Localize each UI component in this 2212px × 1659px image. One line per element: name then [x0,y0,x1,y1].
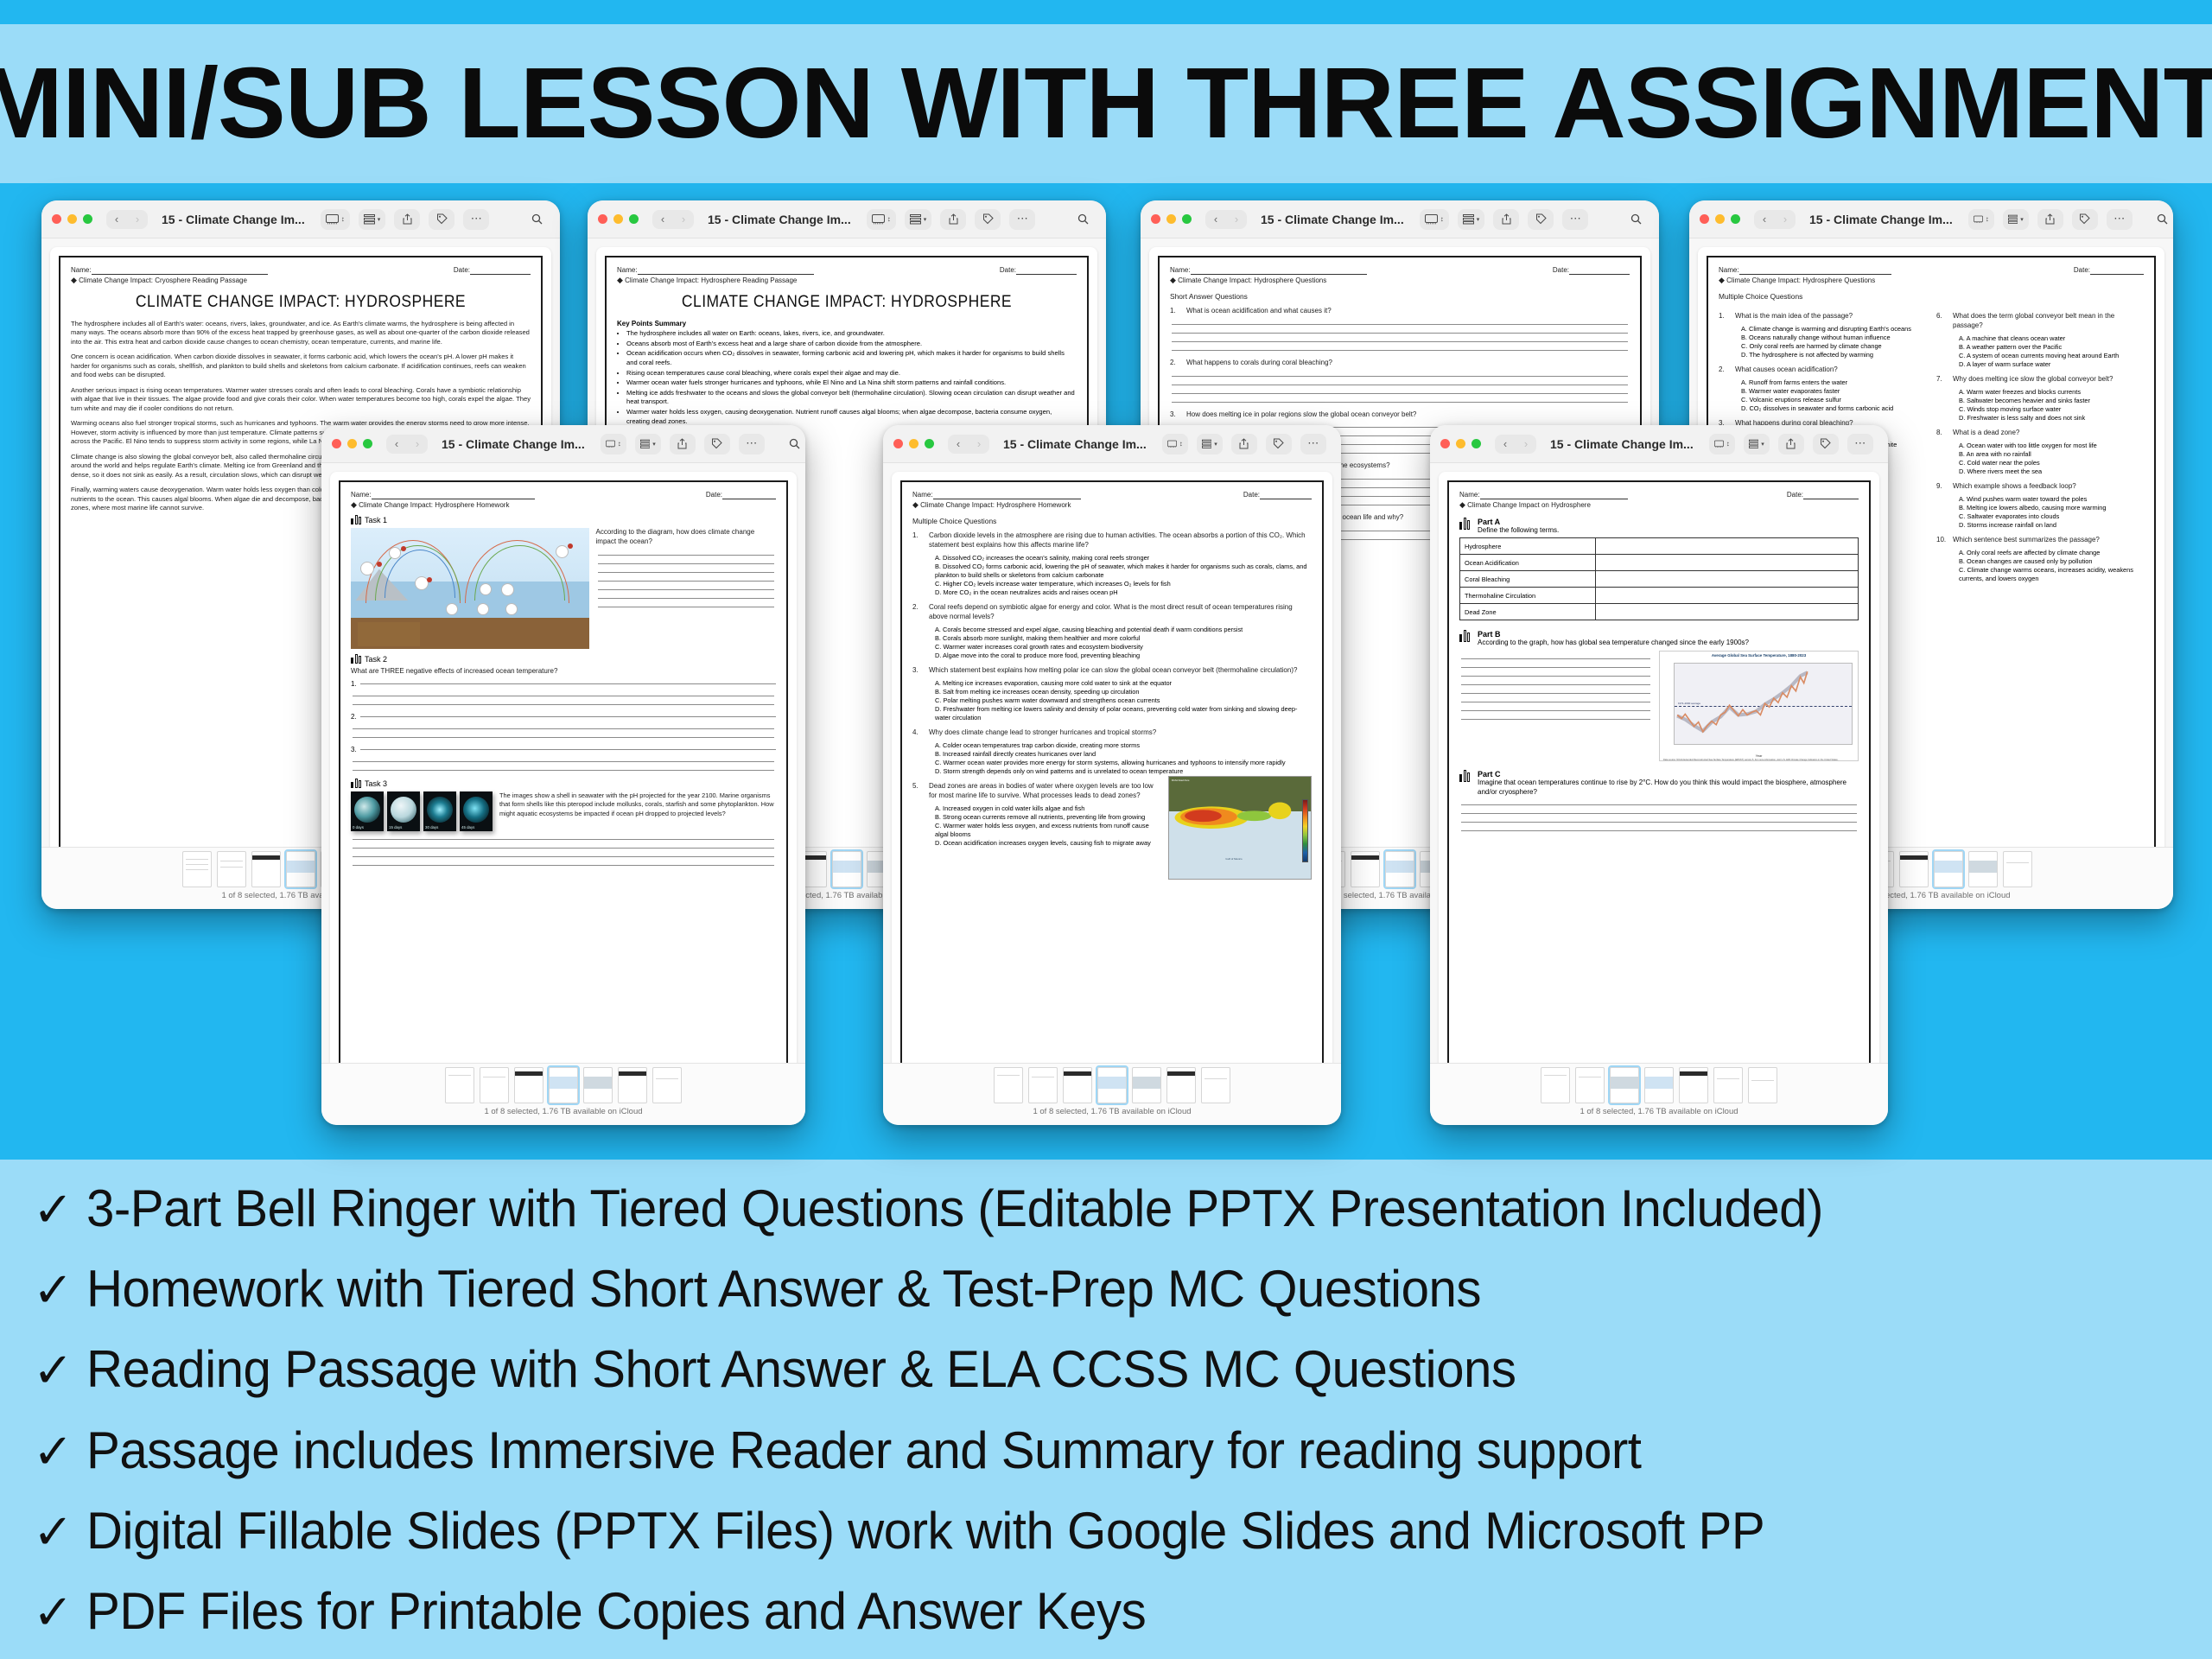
view-mode-icon[interactable]: ↕ [1420,209,1449,230]
choice[interactable]: B. Warmer water evaporates faster [1741,387,1926,396]
choice[interactable]: A. Increased oxygen in cold water kills … [935,804,1161,813]
term-cell: Coral Bleaching [1460,571,1596,588]
table-row[interactable]: Dead Zone [1460,604,1859,620]
titlebar[interactable]: ‹ › 15 - Climate Change Im... ↕ ▾ ⋯ [1141,200,1659,238]
thumbnail[interactable] [1968,851,1998,887]
choice[interactable]: B. An area with no rainfall [1959,450,2144,459]
choice[interactable]: B. Increased rainfall directly creates h… [935,750,1312,759]
choice-list[interactable]: A. Increased oxygen in cold water kills … [935,804,1161,848]
question: 1.Carbon dioxide levels in the atmospher… [912,531,1312,550]
group-by-icon[interactable]: ▾ [1744,434,1770,454]
traffic-lights[interactable] [893,439,934,448]
list-item: The hydrosphere includes all water on Ea… [626,329,1077,339]
list-item: Warmer ocean water fuels stronger hurric… [626,378,1077,388]
minimize-icon[interactable] [613,214,623,224]
feature-label: PDF Files for Printable Copies and Answe… [86,1585,1146,1637]
chart-title: Average Global Sea Surface Temperature, … [1660,652,1858,658]
close-icon[interactable] [893,439,903,448]
part-a-prompt: Define the following terms. [1478,526,1559,534]
choice[interactable]: C. Warmer water holds less oxygen, and e… [935,822,1161,839]
choice[interactable]: D. CO₂ dissolves in seawater and forms c… [1741,404,1926,413]
dead-zone-map-image: NOAA Dead Zone Gulf of Mexico [1168,776,1312,880]
choice-list[interactable]: A. Ocean water with too little oxygen fo… [1959,442,2144,476]
choice[interactable]: A. Climate change is warming and disrupt… [1741,325,1926,334]
thumbnail-selected[interactable] [1097,1067,1127,1103]
search-icon[interactable] [1070,209,1096,230]
name-date-row: Name: Date: [71,266,531,275]
window-title: 15 - Climate Change Im... [1003,437,1147,451]
choice[interactable]: D. A layer of warm surface water [1959,360,2144,369]
nav-buttons[interactable]: ‹ › [1495,435,1536,454]
forward-icon[interactable]: › [969,435,989,454]
bar-chart-icon [1459,770,1470,782]
forward-icon[interactable]: › [1226,210,1247,229]
thumbnail[interactable] [994,1067,1023,1103]
zoom-icon[interactable] [363,439,372,448]
search-icon[interactable] [524,209,550,230]
thumbnail-selected[interactable] [1610,1067,1639,1103]
feature-item: ✓ Digital Fillable Slides (PPTX Files) w… [33,1504,2193,1557]
back-icon[interactable]: ‹ [652,210,673,229]
answer-line [598,572,774,573]
back-icon[interactable]: ‹ [948,435,969,454]
titlebar[interactable]: ‹ › 15 - Climate Change Im... ↕ ▾ ⋯ [321,425,805,463]
zoom-icon[interactable] [629,214,639,224]
traffic-lights[interactable] [52,214,92,224]
choice-list[interactable]: A. Runoff from farms enters the water B.… [1741,378,1926,413]
choice[interactable]: B. Corals absorb more sunlight, making t… [935,634,1312,643]
document-page: Name: Date: ◆ Climate Change Impact on H… [1447,480,1871,1084]
passage-paragraph: The hydrosphere includes all of Earth's … [71,320,531,346]
definition-cell[interactable] [1595,555,1858,571]
thumbnail[interactable] [1644,1067,1674,1103]
thumbnail[interactable] [583,1067,613,1103]
answer-line [1461,830,1857,831]
nav-buttons[interactable]: ‹ › [948,435,989,454]
choice[interactable]: D. More CO₂ in the ocean neutralizes aci… [935,588,1312,597]
definition-cell[interactable] [1595,588,1858,604]
tag-icon[interactable] [429,209,454,230]
table-row[interactable]: Thermohaline Circulation [1460,588,1859,604]
group-by-icon[interactable]: ▾ [635,434,661,454]
more-icon[interactable]: ⋯ [1300,434,1326,454]
thumbnail-selected[interactable] [286,851,315,887]
date-label: Date: [1243,491,1260,499]
traffic-lights[interactable] [1151,214,1192,224]
forward-icon[interactable]: › [1775,210,1796,229]
status-text: 1 of 8 selected, 1.76 TB available on iC… [1033,1105,1191,1116]
answer-line [353,865,774,866]
choice[interactable]: D. Freshwater is less salty and does not… [1959,414,2144,423]
bar-chart-icon [351,515,361,524]
choice[interactable]: A. Wind pushes warm water toward the pol… [1959,495,2144,504]
feature-list: ✓ 3-Part Bell Ringer with Tiered Questio… [33,1182,2193,1659]
status-bar: 1 of 8 selected, 1.76 TB available on iC… [321,1063,805,1125]
choice[interactable]: D. Freshwater from melting ice lowers sa… [935,705,1312,722]
titlebar[interactable]: ‹ › 15 - Climate Change Im... ↕ ▾ ⋯ [883,425,1341,463]
name-label: Name: [351,491,372,499]
titlebar[interactable]: ‹ › 15 - Climate Change Im... ↕ ▾ ⋯ [1430,425,1888,463]
name-label: Name: [1719,266,1739,274]
top-accent-band [0,0,2212,24]
thumbnail[interactable] [618,1067,647,1103]
choice[interactable]: D. Where rivers meet the sea [1959,467,2144,476]
thumbnail-selected[interactable] [1934,851,1963,887]
view-mode-icon[interactable]: ↕ [1968,209,1994,230]
view-mode-icon[interactable]: ↕ [601,434,626,454]
tag-icon[interactable] [704,434,730,454]
thumbnail-selected[interactable] [549,1067,578,1103]
forward-icon[interactable]: › [1516,435,1536,454]
choice[interactable]: D. Storms increase rainfall on land [1959,521,2144,530]
check-icon: ✓ [33,1266,86,1314]
minimize-icon[interactable] [1715,214,1725,224]
choice[interactable]: A. A machine that cleans ocean water [1959,334,2144,343]
choice[interactable]: A. Runoff from farms enters the water [1741,378,1926,387]
choice-list[interactable]: A. Wind pushes warm water toward the pol… [1959,495,2144,530]
thumbnail[interactable] [1201,1067,1230,1103]
task-3-prompt: The images show a shell in seawater with… [499,791,776,818]
share-icon[interactable] [1778,434,1804,454]
choice[interactable]: C. Warmer ocean water provides more ener… [935,759,1312,767]
choice[interactable]: C. Climate change warms oceans, increase… [1959,566,2144,583]
answer-line [353,704,774,705]
thumbnail[interactable] [1166,1067,1196,1103]
thumbnail[interactable] [2003,851,2032,887]
section-heading: Multiple Choice Questions [912,517,1312,525]
name-label: Name: [1459,491,1480,499]
document-subhead: ◆ Climate Change Impact: Hydrosphere Hom… [351,500,776,510]
close-icon[interactable] [52,214,61,224]
status-text: 1 of 8 selected, 1.76 TB available on iC… [484,1105,642,1116]
share-icon[interactable] [1493,209,1519,230]
titlebar[interactable]: ‹ › 15 - Climate Change Im... ↕ ▾ ⋯ [41,200,560,238]
answer-line [1461,813,1857,814]
nav-buttons[interactable]: ‹ › [386,435,428,454]
close-icon[interactable] [1440,439,1450,448]
close-icon[interactable] [598,214,607,224]
back-icon[interactable]: ‹ [1754,210,1775,229]
chart-plot-area: 1971-2000 average [1674,663,1853,745]
more-icon[interactable]: ⋯ [1562,209,1588,230]
definitions-table[interactable]: Hydrosphere Ocean Acidification Coral Bl… [1459,537,1859,620]
table-row[interactable]: Coral Bleaching [1460,571,1859,588]
thumbnail[interactable] [251,851,281,887]
list-item: Warmer water holds less oxygen, causing … [626,408,1077,426]
mc-column-right: 6.What does the term global conveyor bel… [1936,306,2144,583]
choice[interactable]: C. Polar melting pushes warm water downw… [935,696,1312,705]
thumbnail[interactable] [1748,1067,1777,1103]
view-mode-icon[interactable]: ↕ [1162,434,1188,454]
thumbnail[interactable] [1351,851,1380,887]
feature-item: ✓ Reading Passage with Short Answer & EL… [33,1343,2193,1395]
more-icon[interactable]: ⋯ [463,209,489,230]
choice[interactable]: D. Storm strength depends only on wind p… [935,767,1312,776]
choice-list[interactable]: A. Melting ice increases evaporation, ca… [935,679,1312,722]
titlebar[interactable]: ‹ › 15 - Climate Change Im... ↕ ▾ ⋯ [588,200,1106,238]
tag-icon[interactable] [975,209,1001,230]
choice[interactable]: D. Ocean acidification increases oxygen … [935,839,1161,848]
list-item: Oceans absorb most of Earth's excess hea… [626,340,1077,349]
thumbnail[interactable] [182,851,212,887]
choice-list[interactable]: A. Colder ocean temperatures trap carbon… [935,741,1312,776]
answer-line [1172,385,1628,385]
choice[interactable]: D. The hydrosphere is not affected by wa… [1741,351,1926,359]
choice[interactable]: A. Ocean water with too little oxygen fo… [1959,442,2144,450]
choice[interactable]: A. Melting ice increases evaporation, ca… [935,679,1312,688]
thumbnail[interactable] [1679,1067,1708,1103]
group-by-icon[interactable]: ▾ [905,209,932,230]
traffic-lights[interactable] [1700,214,1740,224]
answer-line [1461,702,1650,702]
name-date-row: Name: Date: [1170,266,1630,275]
question: 2.What happens to corals during coral bl… [1170,359,1630,368]
date-label: Date: [1000,266,1016,274]
group-by-icon[interactable]: ▾ [359,209,386,230]
choice[interactable]: C. A system of ocean currents moving hea… [1959,352,2144,360]
name-date-row: Name: Date: [912,491,1312,499]
minimize-icon[interactable] [1166,214,1176,224]
thumbnail[interactable] [480,1067,509,1103]
answer-line [1461,667,1650,668]
check-icon: ✓ [33,1346,86,1395]
back-icon[interactable]: ‹ [386,435,407,454]
thumbnail-strip[interactable] [994,1064,1230,1105]
answer-line [353,696,774,696]
task-2-prompt: What are THREE negative effects of incre… [351,667,776,675]
close-icon[interactable] [332,439,341,448]
traffic-lights[interactable] [332,439,372,448]
document-subhead: ◆ Climate Change Impact: Hydrosphere Que… [1719,276,2144,285]
document-subhead: ◆ Climate Change Impact: Cryosphere Read… [71,276,531,285]
nav-buttons[interactable]: ‹ › [1754,210,1796,229]
thumbnail[interactable] [445,1067,474,1103]
thumbnail-strip[interactable] [1541,1064,1777,1105]
back-icon[interactable]: ‹ [1205,210,1226,229]
search-icon[interactable] [782,434,805,454]
answer-line [598,581,774,582]
zoom-icon[interactable] [1182,214,1192,224]
date-label: Date: [1553,266,1569,274]
feature-item: ✓ PDF Files for Printable Copies and Ans… [33,1585,2193,1637]
choice-list[interactable]: A. A machine that cleans ocean water B. … [1959,334,2144,369]
nav-buttons[interactable]: ‹ › [106,210,148,229]
definition-cell[interactable] [1595,604,1858,620]
choice-list[interactable]: A. Warm water freezes and blocks current… [1959,388,2144,423]
answer-line [353,856,774,857]
window-title: 15 - Climate Change Im... [162,213,305,226]
answer-line [1172,393,1628,394]
check-icon: ✓ [33,1427,86,1476]
traffic-lights[interactable] [1440,439,1481,448]
part-c-prompt: Imagine that ocean temperatures continue… [1478,779,1859,797]
thumbnail[interactable] [1899,851,1929,887]
thumbnail[interactable] [217,851,246,887]
titlebar[interactable]: ‹ › 15 - Climate Change Im... ↕ ▾ ⋯ [1689,200,2173,238]
choice[interactable]: B. Saltwater becomes heavier and sinks f… [1959,397,2144,405]
table-row[interactable]: Hydrosphere [1460,538,1859,555]
document-sheet: Name: Date: ◆ Climate Change Impact on H… [1439,472,1879,1092]
choice[interactable]: A. Only coral reefs are affected by clim… [1959,549,2144,557]
shell-image: 15 days [387,791,420,831]
definition-cell[interactable] [1595,538,1858,555]
answer-line [1461,676,1650,677]
chart-annotation: 1971-2000 average [1678,702,1700,705]
window-homework-mc[interactable]: ‹ › 15 - Climate Change Im... ↕ ▾ ⋯ Name… [883,425,1341,1125]
share-icon[interactable] [2037,209,2063,230]
choice[interactable]: B. Ocean changes are caused only by poll… [1959,557,2144,566]
bar-chart-icon [351,654,361,664]
share-icon[interactable] [670,434,696,454]
thumbnail[interactable] [652,1067,682,1103]
feature-label: Reading Passage with Short Answer & ELA … [86,1343,1516,1395]
zoom-icon[interactable] [925,439,934,448]
tag-icon[interactable] [1528,209,1554,230]
traffic-lights[interactable] [598,214,639,224]
minimize-icon[interactable] [347,439,357,448]
thumbnail[interactable] [1132,1067,1161,1103]
group-by-icon[interactable]: ▾ [2003,209,2029,230]
shell-image: 45 days [460,791,493,831]
thumbnail-strip[interactable] [445,1064,682,1105]
answer-line [353,848,774,849]
question: 5.Dead zones are areas in bodies of wate… [912,782,1161,801]
answer-line [360,683,776,684]
question: 1.What is ocean acidification and what c… [1170,307,1630,316]
thumbnail[interactable] [1575,1067,1605,1103]
view-mode-icon[interactable]: ↕ [1709,434,1735,454]
thumbnail[interactable] [1063,1067,1092,1103]
table-row[interactable]: Ocean Acidification [1460,555,1859,571]
tag-icon[interactable] [1813,434,1839,454]
choice[interactable]: D. Algae move into the coral to produce … [935,652,1312,660]
status-text: 1 of 8 selected, 1.76 TB available on iC… [1580,1105,1738,1116]
thumbnail[interactable] [1541,1067,1570,1103]
answer-line [598,589,774,590]
choice[interactable]: A. Colder ocean temperatures trap carbon… [935,741,1312,750]
choice[interactable]: B. Salt from melting ice increases ocean… [935,688,1312,696]
feature-item: ✓ Homework with Tiered Short Answer & Te… [33,1262,2193,1315]
choice[interactable]: C. Higher CO₂ levels increase water temp… [935,580,1312,588]
thumbnail[interactable] [514,1067,543,1103]
choice[interactable]: C. Warmer water increases coral growth r… [935,643,1312,652]
minimize-icon[interactable] [67,214,77,224]
choice-list[interactable]: A. Corals become stressed and expel alga… [935,626,1312,660]
more-icon[interactable]: ⋯ [2107,209,2133,230]
task-1-prompt: According to the diagram, how does clima… [596,528,776,547]
choice[interactable]: B. Melting ice lowers albedo, causing mo… [1959,504,2144,512]
share-icon[interactable] [394,209,420,230]
name-label: Name: [71,266,92,274]
tag-icon[interactable] [1266,434,1292,454]
window-bell-ringer[interactable]: ‹ › 15 - Climate Change Im... ↕ ▾ ⋯ Name… [1430,425,1888,1125]
question: 7.Why does melting ice slow the global c… [1936,375,2144,385]
minimize-icon[interactable] [1456,439,1465,448]
thumbnail-selected[interactable] [832,851,861,887]
answer-line [1172,333,1628,334]
feature-label: 3-Part Bell Ringer with Tiered Questions… [86,1182,1823,1235]
choice[interactable]: A. Corals become stressed and expel alga… [935,626,1312,634]
zoom-icon[interactable] [1731,214,1740,224]
definition-cell[interactable] [1595,571,1858,588]
view-mode-icon[interactable]: ↕ [867,209,896,230]
view-mode-icon[interactable]: ↕ [321,209,350,230]
close-icon[interactable] [1151,214,1160,224]
share-icon[interactable] [940,209,966,230]
thumbnail-selected[interactable] [1385,851,1414,887]
name-date-row: Name: Date: [351,491,776,499]
choice[interactable]: C. Cold water near the poles [1959,459,2144,467]
choice[interactable]: C. Saltwater evaporates into clouds [1959,512,2144,521]
choice[interactable]: B. Strong ocean currents remove all nutr… [935,813,1161,822]
window-title: 15 - Climate Change Im... [1809,213,1953,226]
question: 6.What does the term global conveyor bel… [1936,312,2144,331]
zoom-icon[interactable] [83,214,92,224]
task-1-answer: According to the diagram, how does clima… [596,528,776,649]
shell-image: 30 days [423,791,456,831]
choice[interactable]: B. A weather pattern over the Pacific [1959,343,2144,352]
more-icon[interactable]: ⋯ [739,434,765,454]
window-title: 15 - Climate Change Im... [1261,213,1404,226]
thumbnail[interactable] [1713,1067,1743,1103]
group-by-icon[interactable]: ▾ [1458,209,1485,230]
back-icon[interactable]: ‹ [1495,435,1516,454]
feature-item: ✓ Passage includes Immersive Reader and … [33,1424,2193,1477]
forward-icon[interactable]: › [673,210,694,229]
share-icon[interactable] [1231,434,1257,454]
choice-list[interactable]: A. Only coral reefs are affected by clim… [1959,549,2144,583]
thumbnail[interactable] [1028,1067,1058,1103]
term-cell: Ocean Acidification [1460,555,1596,571]
choice[interactable]: A. Dissolved CO₂ increases the ocean's s… [935,554,1312,563]
search-icon[interactable] [1623,209,1649,230]
nav-buttons[interactable]: ‹ › [652,210,694,229]
choice[interactable]: A. Warm water freezes and blocks current… [1959,388,2144,397]
choice[interactable]: C. Volcanic eruptions release sulfur [1741,396,1926,404]
window-title: 15 - Climate Change Im... [708,213,851,226]
forward-icon[interactable]: › [127,210,148,229]
forward-icon[interactable]: › [407,435,428,454]
document-subhead: ◆ Climate Change Impact: Hydrosphere Hom… [912,500,1312,510]
answer-line [598,598,774,599]
close-icon[interactable] [1700,214,1709,224]
more-icon[interactable]: ⋯ [1847,434,1873,454]
tag-icon[interactable] [2072,209,2098,230]
minimize-icon[interactable] [909,439,918,448]
feature-item: ✓ 3-Part Bell Ringer with Tiered Questio… [33,1182,2193,1235]
choice-list[interactable]: A. Dissolved CO₂ increases the ocean's s… [935,554,1312,597]
choice[interactable]: B. Dissolved CO₂ forms carbonic acid, lo… [935,563,1312,580]
back-icon[interactable]: ‹ [106,210,127,229]
document-title: CLIMATE CHANGE IMPACT: HYDROSPHERE [635,293,1058,312]
choice-list[interactable]: A. Climate change is warming and disrupt… [1741,325,1926,359]
answer-line [1461,693,1650,694]
window-homework-tasks[interactable]: ‹ › 15 - Climate Change Im... ↕ ▾ ⋯ Name… [321,425,805,1125]
more-icon[interactable]: ⋯ [1009,209,1035,230]
choice[interactable]: C. Winds stop moving surface water [1959,405,2144,414]
answer-line [1461,710,1650,711]
search-icon[interactable] [2150,209,2173,230]
choice[interactable]: C. Only coral reefs are harmed by climat… [1741,342,1926,351]
date-label: Date: [454,266,470,274]
nav-buttons[interactable]: ‹ › [1205,210,1247,229]
bar-chart-icon [351,779,361,788]
group-by-icon[interactable]: ▾ [1197,434,1223,454]
zoom-icon[interactable] [1471,439,1481,448]
answer-line [360,749,776,750]
question: 2.Coral reefs depend on symbiotic algae … [912,603,1312,622]
choice[interactable]: B. Oceans naturally change without human… [1741,334,1926,342]
